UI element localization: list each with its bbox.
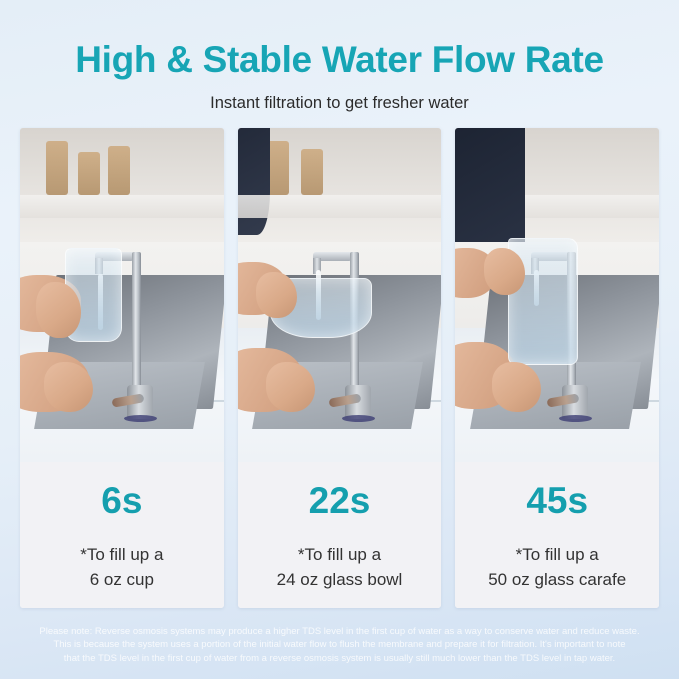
photo-glass-carafe xyxy=(455,128,659,462)
caption-45s: 45s *To fill up a 50 oz glass carafe xyxy=(455,462,659,608)
shelf-jars xyxy=(40,141,134,194)
card-22s: 22s *To fill up a 24 oz glass bowl xyxy=(238,128,442,608)
shelf-bar xyxy=(525,195,659,218)
caption-text: *To fill up a 50 oz glass carafe xyxy=(488,543,626,592)
faucet-indicator-ring xyxy=(342,415,375,422)
caption-line-2: 6 oz cup xyxy=(80,568,163,593)
caption-6s: 6s *To fill up a 6 oz cup xyxy=(20,462,224,608)
shelf-bar xyxy=(238,195,442,218)
faucet-stem xyxy=(132,252,141,392)
caption-22s: 22s *To fill up a 24 oz glass bowl xyxy=(238,462,442,608)
jar-icon xyxy=(46,141,68,194)
card-6s: 6s *To fill up a 6 oz cup xyxy=(20,128,224,608)
jar-icon xyxy=(108,146,130,195)
disclaimer-line-1: Please note: Reverse osmosis systems may… xyxy=(14,625,665,638)
card-45s: 45s *To fill up a 50 oz glass carafe xyxy=(455,128,659,608)
jar-icon xyxy=(301,149,323,195)
caption-text: *To fill up a 24 oz glass bowl xyxy=(277,543,403,592)
infographic-page: High & Stable Water Flow Rate Instant fi… xyxy=(0,0,679,679)
page-subtitle: Instant filtration to get fresher water xyxy=(0,94,679,113)
fill-time: 6s xyxy=(101,482,142,519)
caption-line-1: *To fill up a xyxy=(277,543,403,568)
hand-holding-bowl xyxy=(256,272,297,319)
page-title: High & Stable Water Flow Rate xyxy=(0,40,679,81)
fill-time: 22s xyxy=(309,482,371,519)
jar-icon xyxy=(267,141,289,194)
disclaimer-line-3: that the TDS level in the first cup of w… xyxy=(14,652,665,665)
cards-row: 6s *To fill up a 6 oz cup xyxy=(20,128,659,608)
faucet-indicator-ring xyxy=(124,415,157,422)
disclaimer-note: Please note: Reverse osmosis systems may… xyxy=(0,625,679,665)
caption-line-1: *To fill up a xyxy=(488,543,626,568)
caption-text: *To fill up a 6 oz cup xyxy=(80,543,163,592)
shelf-jars xyxy=(258,141,352,194)
hand-holding-carafe xyxy=(484,248,525,295)
caption-line-2: 24 oz glass bowl xyxy=(277,568,403,593)
photo-glass-bowl xyxy=(238,128,442,462)
photo-glass-cup xyxy=(20,128,224,462)
jar-icon xyxy=(78,152,100,195)
person-silhouette xyxy=(238,128,271,235)
caption-line-1: *To fill up a xyxy=(80,543,163,568)
shelf-bar xyxy=(20,195,224,218)
fill-time: 45s xyxy=(526,482,588,519)
faucet-indicator-ring xyxy=(559,415,592,422)
caption-line-2: 50 oz glass carafe xyxy=(488,568,626,593)
disclaimer-line-2: This is because the system uses a portio… xyxy=(14,638,665,651)
header: High & Stable Water Flow Rate Instant fi… xyxy=(0,0,679,113)
